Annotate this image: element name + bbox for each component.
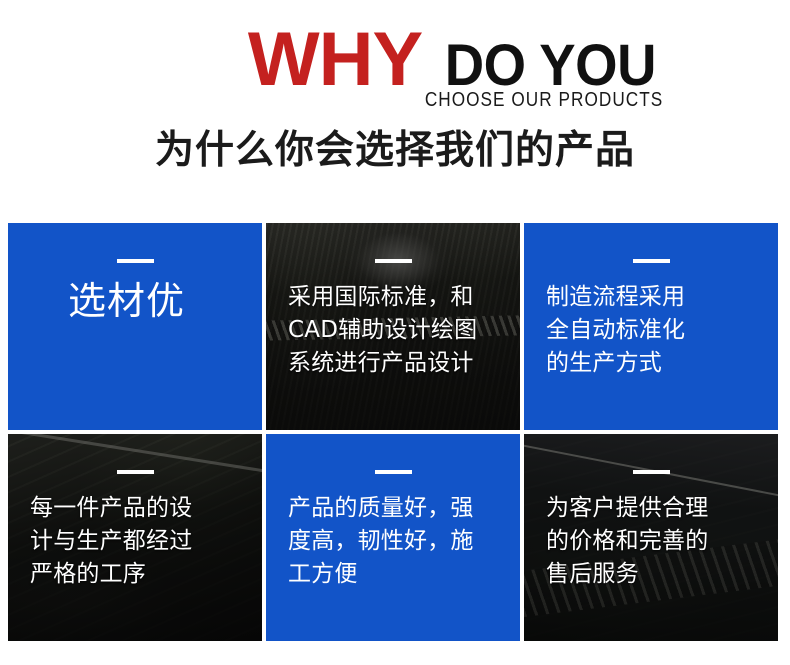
feature-cell-4[interactable]: 每一件产品的设 计与生产都经过 严格的工序	[8, 434, 262, 641]
headline-subline-english: CHOOSE OUR PRODUCTS	[425, 89, 663, 111]
promo-banner: WHY DO YOU CHOOSE OUR PRODUCTS 为什么你会选择我们…	[0, 0, 790, 665]
headline-secondary: DO YOU	[445, 37, 656, 95]
divider-dash-icon	[633, 259, 670, 263]
headline-inner: WHY DO YOU	[248, 22, 663, 98]
feature-cell-5[interactable]: 产品的质量好，强 度高，韧性好，施 工方便	[266, 434, 520, 641]
divider-dash-icon	[117, 470, 154, 474]
feature-cell-body: 制造流程采用 全自动标准化 的生产方式	[524, 223, 778, 430]
feature-cell-body: 产品的质量好，强 度高，韧性好，施 工方便	[266, 434, 520, 641]
feature-cell-body: 选材优	[8, 223, 262, 430]
feature-cell-2[interactable]: 采用国际标准，和 CAD辅助设计绘图 系统进行产品设计	[266, 223, 520, 430]
divider-dash-icon	[375, 470, 412, 474]
feature-cell-text: 选材优	[8, 277, 262, 325]
headline-group: WHY DO YOU	[0, 22, 790, 94]
divider-dash-icon	[375, 259, 412, 263]
banner-header: WHY DO YOU CHOOSE OUR PRODUCTS 为什么你会选择我们…	[0, 0, 790, 215]
feature-cell-6[interactable]: 为客户提供合理 的价格和完善的 售后服务	[524, 434, 778, 641]
feature-cell-body: 采用国际标准，和 CAD辅助设计绘图 系统进行产品设计	[266, 223, 520, 430]
feature-cell-text: 采用国际标准，和 CAD辅助设计绘图 系统进行产品设计	[266, 281, 520, 380]
feature-cell-body: 每一件产品的设 计与生产都经过 严格的工序	[8, 434, 262, 641]
divider-dash-icon	[633, 470, 670, 474]
feature-cell-text: 每一件产品的设 计与生产都经过 严格的工序	[8, 492, 262, 591]
feature-cell-1[interactable]: 选材优	[8, 223, 262, 430]
feature-cell-text: 为客户提供合理 的价格和完善的 售后服务	[524, 492, 778, 591]
divider-dash-icon	[117, 259, 154, 263]
headline-subline-chinese: 为什么你会选择我们的产品	[0, 128, 790, 174]
feature-cell-text: 产品的质量好，强 度高，韧性好，施 工方便	[266, 492, 520, 591]
feature-cell-3[interactable]: 制造流程采用 全自动标准化 的生产方式	[524, 223, 778, 430]
headline-primary: WHY	[248, 22, 422, 98]
feature-grid: 选材优 采用国际标准，和 CAD辅助设计绘图 系统进行产品设计 制造流程采用 全…	[8, 223, 778, 641]
feature-cell-text: 制造流程采用 全自动标准化 的生产方式	[524, 281, 778, 380]
feature-cell-body: 为客户提供合理 的价格和完善的 售后服务	[524, 434, 778, 641]
